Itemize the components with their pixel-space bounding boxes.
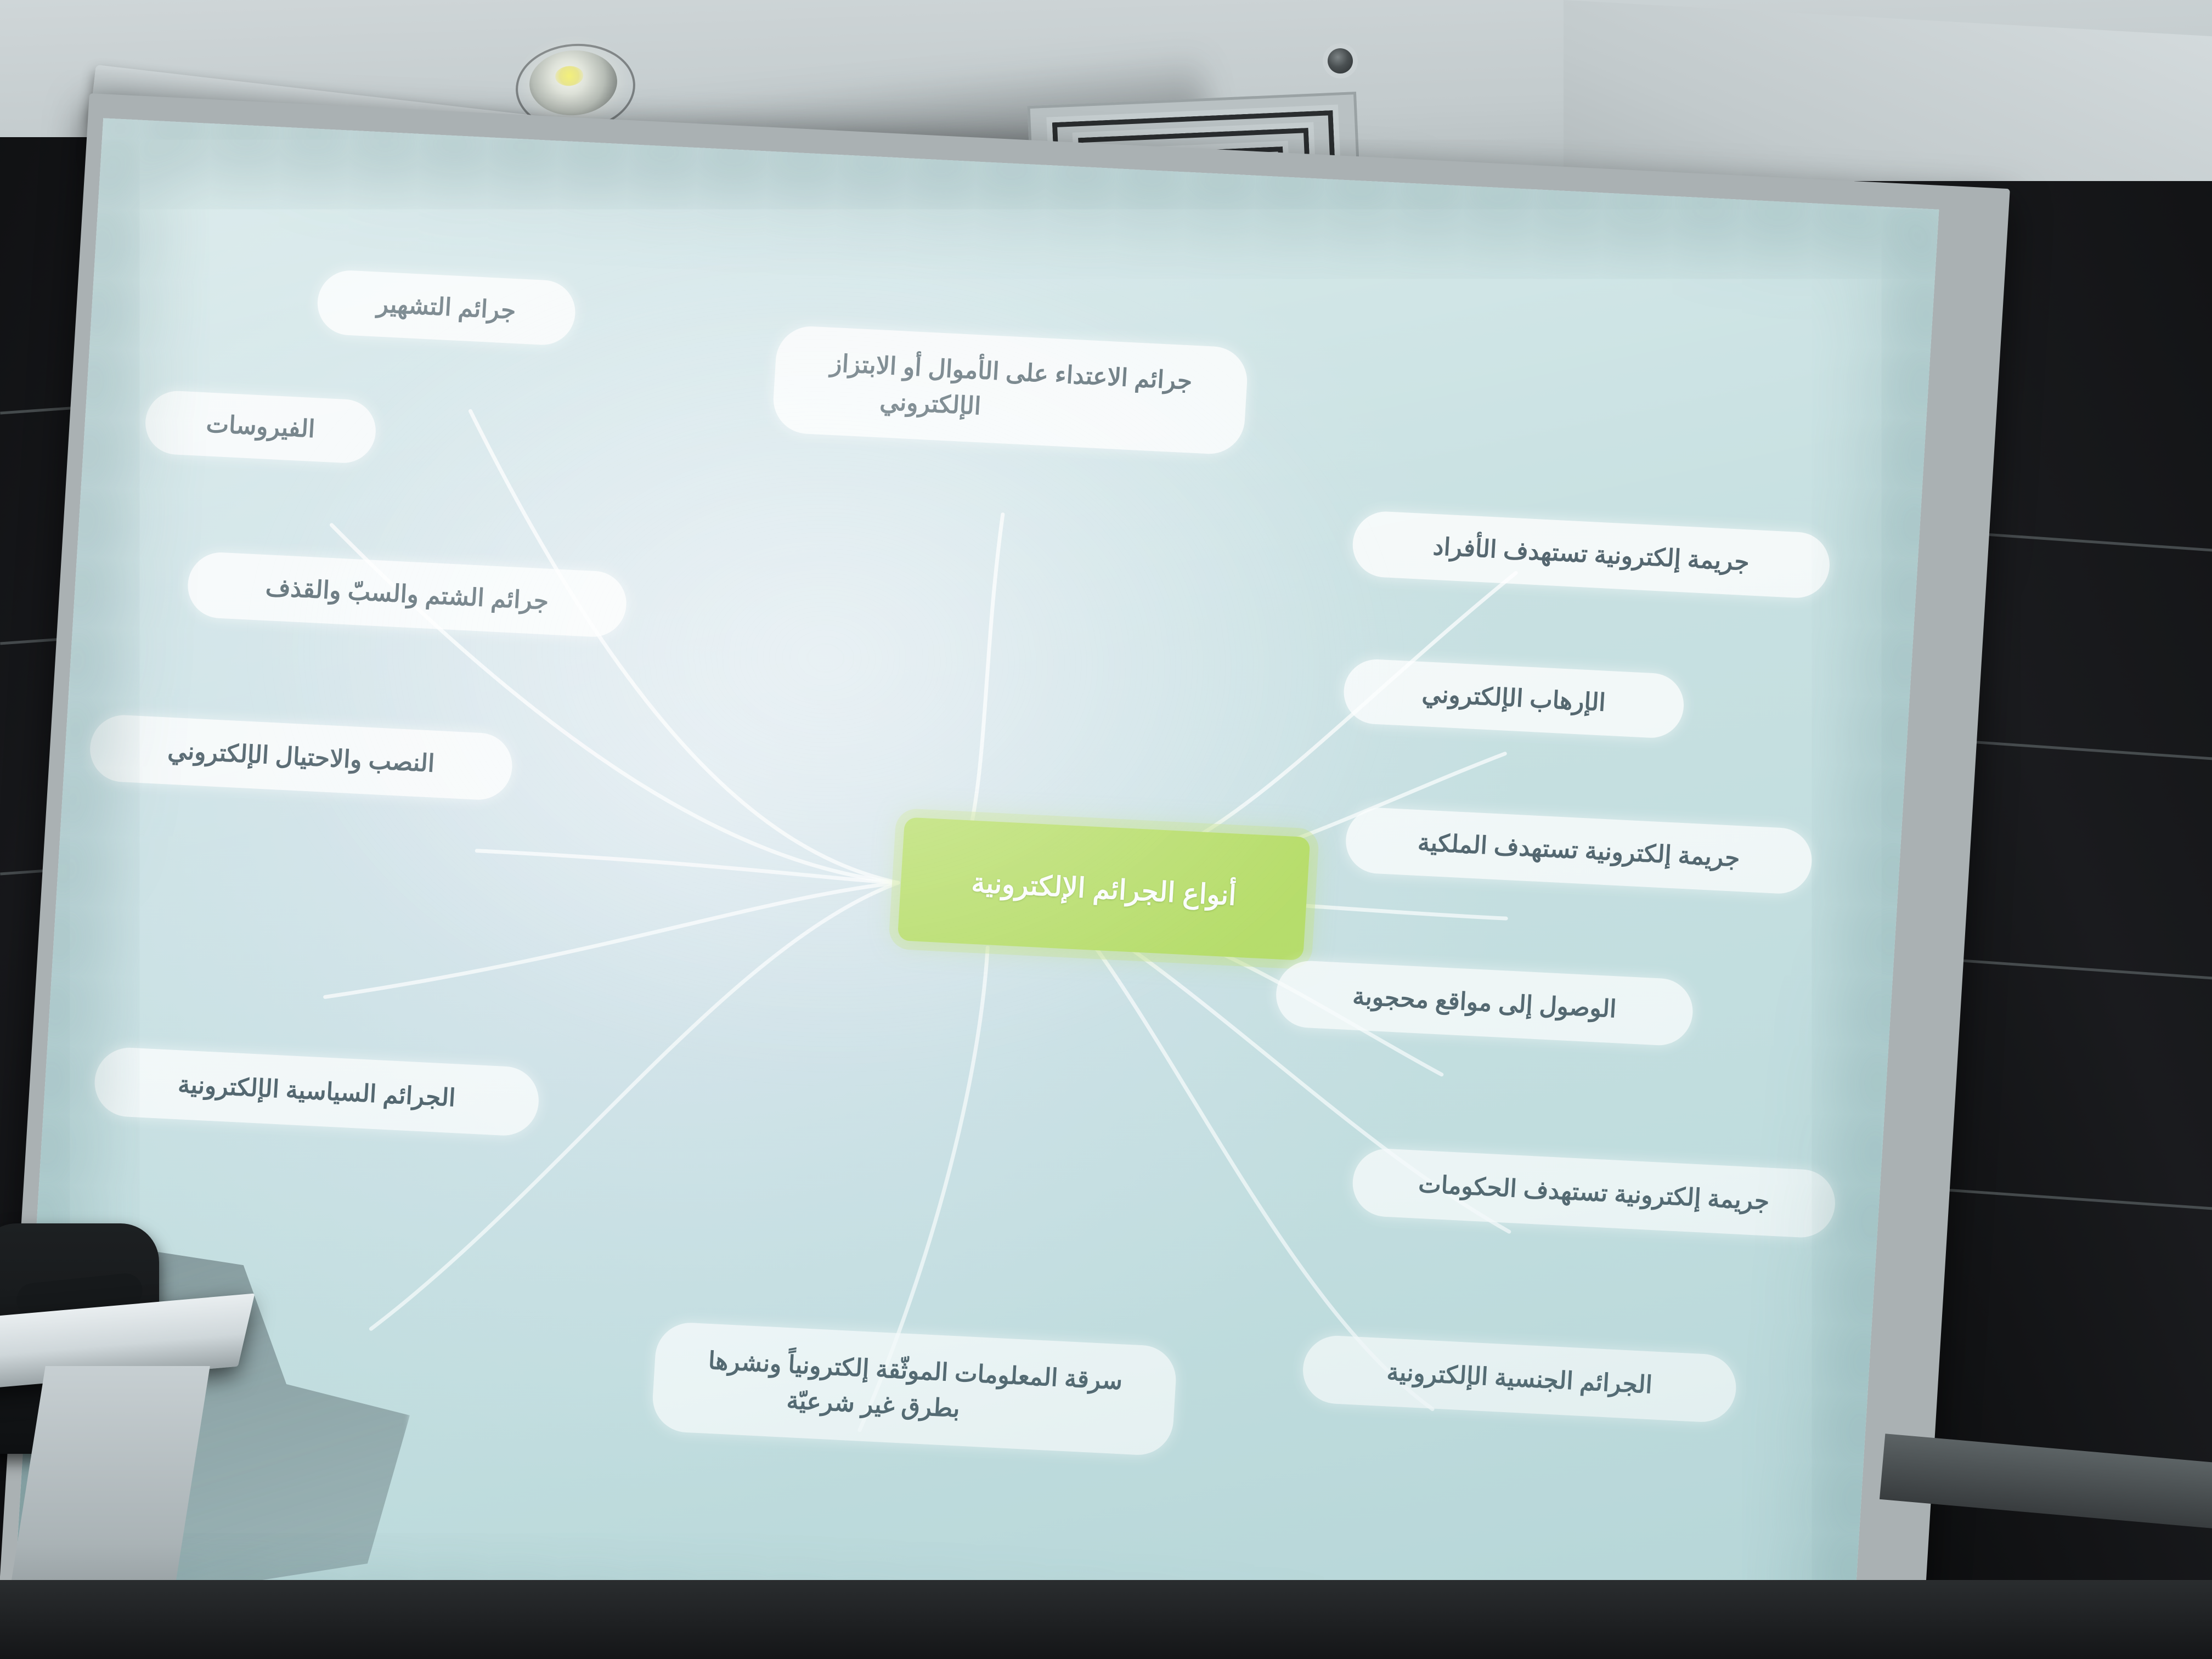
fire-sprinkler-icon [1328,48,1353,74]
screen-vignette [13,118,1939,1659]
floor [0,1580,2212,1659]
projection-screen: جرائم التشهير الفيروسات جرائم الشتم والس… [0,93,2010,1659]
conference-room-photo: جرائم التشهير الفيروسات جرائم الشتم والس… [0,0,2212,1659]
projected-slide: جرائم التشهير الفيروسات جرائم الشتم والس… [13,118,1939,1659]
